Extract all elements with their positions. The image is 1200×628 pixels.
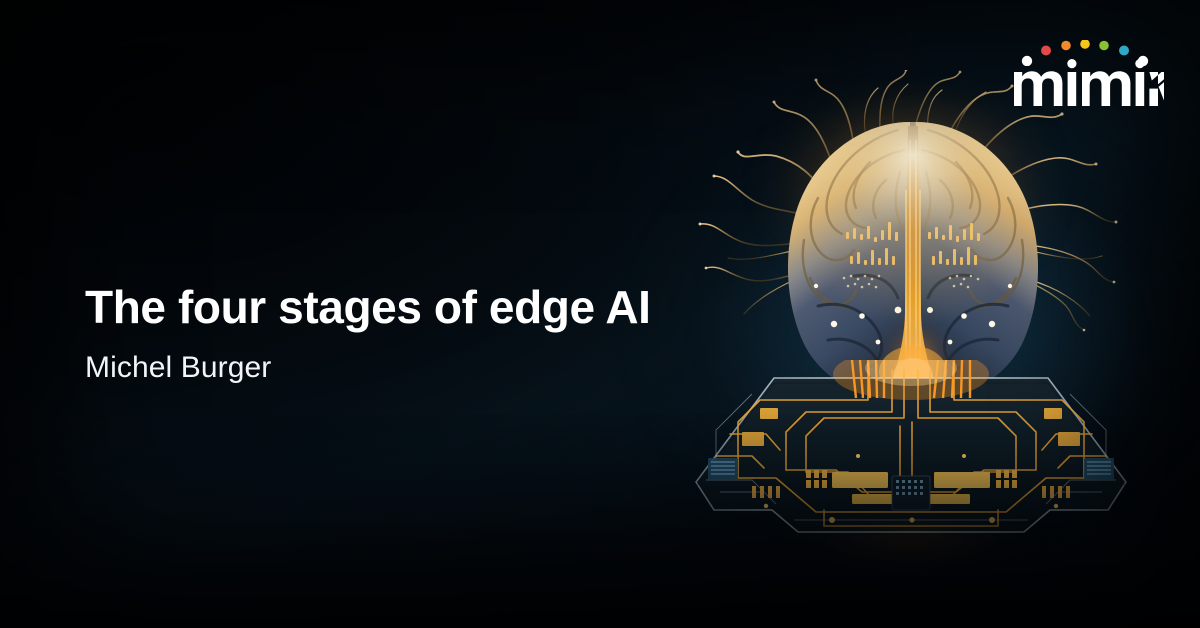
dot-yellow: [1080, 40, 1090, 49]
share-card-canvas: The four stages of edge AI Michel Burger: [0, 0, 1200, 628]
page-title: The four stages of edge AI: [85, 283, 765, 333]
dot-green: [1099, 41, 1109, 51]
author-byline: Michel Burger: [85, 351, 765, 384]
mimik-logo[interactable]: [1010, 40, 1170, 110]
background-bottom-fade: [0, 408, 1200, 628]
mimik-wordmark-icon: [1012, 58, 1164, 110]
dot-teal: [1119, 46, 1129, 56]
text-block: The four stages of edge AI Michel Burger: [85, 283, 765, 384]
dot-orange: [1061, 41, 1071, 51]
dot-red: [1041, 46, 1051, 56]
